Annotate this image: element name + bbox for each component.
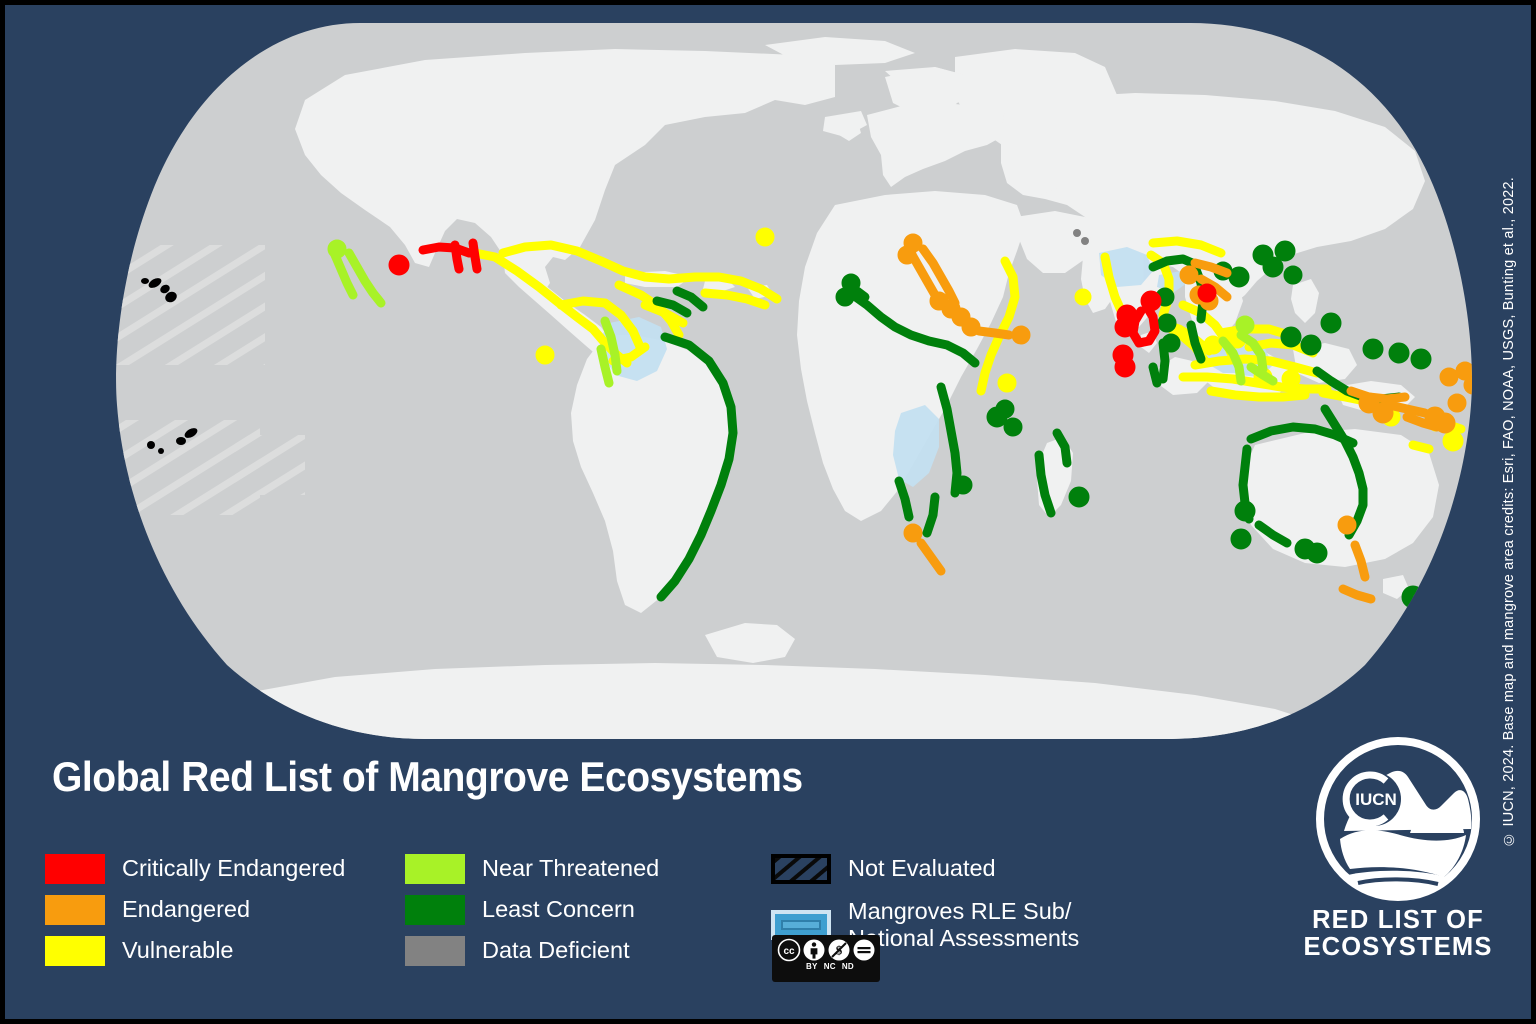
cc-nc-nocommercial-icon: $ — [827, 938, 851, 962]
swatch-data-deficient — [405, 936, 465, 966]
legend-item-least-concern[interactable]: Least Concern — [405, 889, 659, 930]
legend-label-not-evaluated: Not Evaluated — [848, 855, 996, 881]
cc-circle-icon: cc — [777, 938, 801, 962]
legend-item-data-deficient[interactable]: Data Deficient — [405, 930, 659, 971]
legend-item-not-evaluated[interactable]: Not Evaluated — [771, 848, 1079, 889]
swatch-vulnerable — [45, 936, 105, 966]
cc-by-person-icon — [802, 938, 826, 962]
swatch-least-concern — [405, 895, 465, 925]
legend-column-threatened: Critically Endangered Endangered Vulnera… — [45, 848, 345, 971]
legend-label-least-concern: Least Concern — [482, 896, 635, 922]
legend-column-lower-risk: Near Threatened Least Concern Data Defic… — [405, 848, 659, 971]
legend-item-vulnerable[interactable]: Vulnerable — [45, 930, 345, 971]
cc-term-nd: ND — [842, 962, 854, 971]
red-list-wordmark: RED LIST OF ECOSYSTEMS — [1303, 907, 1492, 961]
iucn-emblem-icon: IUCN — [1314, 735, 1482, 903]
swatch-critically-endangered — [45, 854, 105, 884]
iucn-abbr-text: IUCN — [1355, 790, 1397, 809]
legend-label-data-deficient: Data Deficient — [482, 937, 630, 963]
legend-label-rle-subnational: Mangroves RLE Sub/ National Assessments — [848, 898, 1079, 952]
swatch-endangered — [45, 895, 105, 925]
world-map[interactable] — [5, 5, 1495, 745]
cc-license-badge[interactable]: cc $ BY NC ND — [772, 935, 880, 982]
legend-item-critically-endangered[interactable]: Critically Endangered — [45, 848, 345, 889]
credit-text: © IUCN, 2024. Base map and mangrove area… — [1501, 177, 1517, 847]
wordmark-line-1: RED LIST OF — [1303, 907, 1492, 934]
cc-term-nc: NC — [824, 962, 836, 971]
legend-item-near-threatened[interactable]: Near Threatened — [405, 848, 659, 889]
swatch-rle-inner — [781, 920, 821, 930]
legend-item-endangered[interactable]: Endangered — [45, 889, 345, 930]
swatch-near-threatened — [405, 854, 465, 884]
cc-term-by: BY — [806, 962, 818, 971]
legend-label-near-threatened: Near Threatened — [482, 855, 659, 881]
legend-label-endangered: Endangered — [122, 896, 250, 922]
cc-icons: cc $ — [776, 938, 876, 962]
page-title: Global Red List of Mangrove Ecosystems — [52, 753, 803, 801]
legend-label-vulnerable: Vulnerable — [122, 937, 234, 963]
poster-root: © IUCN, 2024. Base map and mangrove area… — [0, 0, 1536, 1024]
iucn-red-list-logo[interactable]: IUCN RED LIST OF ECOSYSTEMS — [1293, 735, 1503, 1005]
map-globe — [5, 5, 1495, 745]
swatch-not-evaluated — [771, 854, 831, 884]
legend-label-critically-endangered: Critically Endangered — [122, 855, 345, 881]
cc-term-labels: BY NC ND — [776, 962, 876, 971]
cc-nd-noderivs-icon — [852, 938, 876, 962]
svg-text:cc: cc — [783, 946, 795, 957]
wordmark-line-2: ECOSYSTEMS — [1303, 934, 1492, 961]
